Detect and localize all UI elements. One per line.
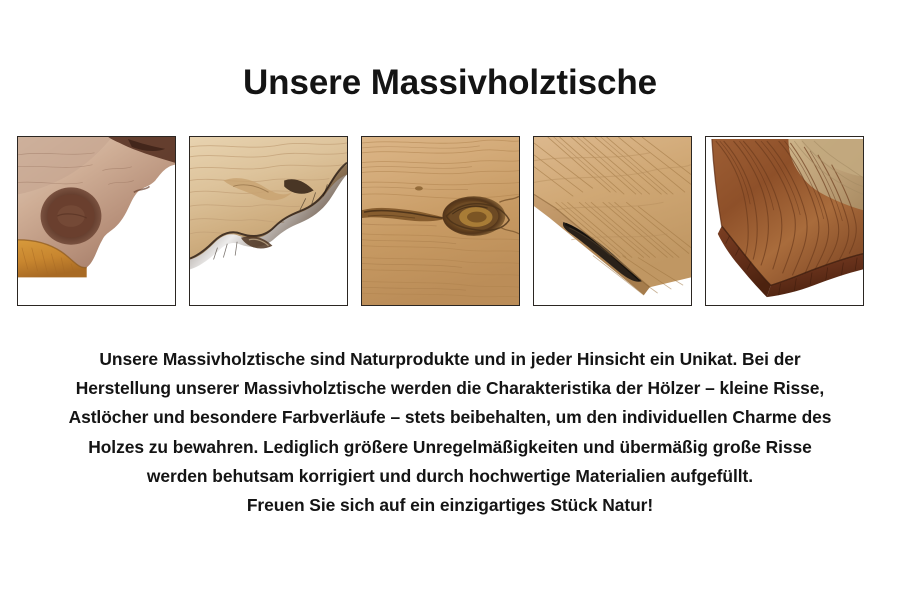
gallery-item-photo-3[interactable]	[361, 136, 520, 306]
page-title: Unsere Massivholztische	[0, 63, 900, 103]
gallery-item-photo-2[interactable]	[189, 136, 348, 306]
body-paragraph-line-2: Herstellung unserer Massivholztische wer…	[30, 374, 870, 403]
page-title-container: Unsere Massivholztische	[0, 63, 900, 103]
gallery-item-photo-4[interactable]	[533, 136, 692, 306]
wood-photo-gallery	[17, 136, 885, 306]
wood-grain-knot-closeup-photo	[362, 137, 519, 305]
closing-line: Freuen Sie sich auf ein einzigartiges St…	[30, 491, 870, 520]
wood-slab-knot-photo	[18, 137, 175, 305]
body-paragraph-line-1: Unsere Massivholztische sind Naturproduk…	[30, 345, 870, 374]
body-copy: Unsere Massivholztische sind Naturproduk…	[30, 345, 870, 520]
sheesham-slab-corner-photo	[706, 137, 863, 305]
body-paragraph-line-4: Holzes zu bewahren. Lediglich größere Un…	[30, 433, 870, 462]
body-paragraph-line-5: werden behutsam korrigiert und durch hoc…	[30, 462, 870, 491]
rough-sawn-plank-crack-photo	[534, 137, 691, 305]
live-edge-light-wood-photo	[190, 137, 347, 305]
body-paragraph-line-3: Astlöcher und besondere Farbverläufe – s…	[30, 403, 870, 432]
product-info-page: Unsere Massivholztische	[0, 0, 900, 600]
gallery-item-photo-1[interactable]	[17, 136, 176, 306]
gallery-item-photo-5[interactable]	[705, 136, 864, 306]
